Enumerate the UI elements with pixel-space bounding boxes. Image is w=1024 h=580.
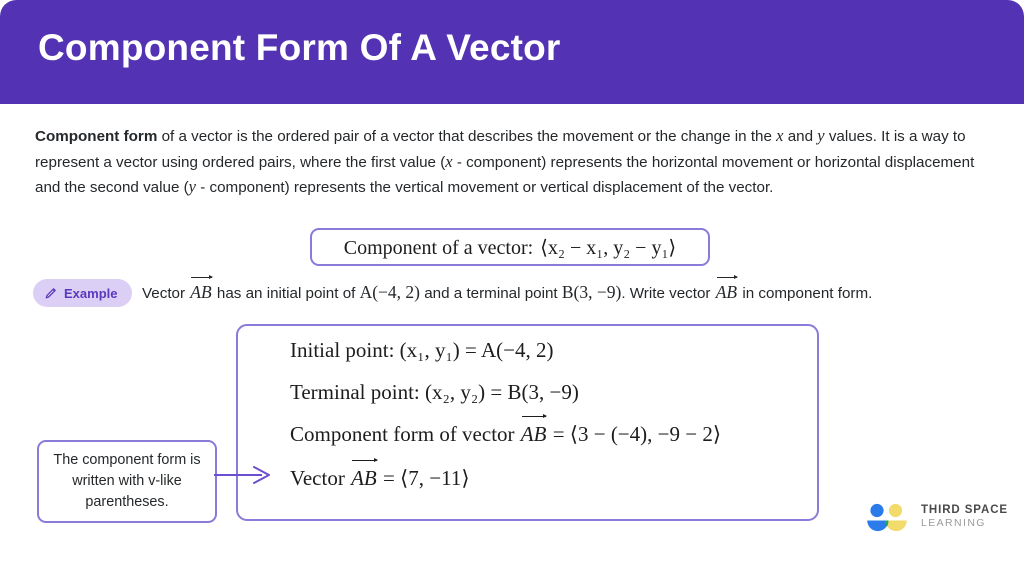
solution-line3-expression: = ⟨3 − (−4), −9 − 2⟩ [547, 422, 721, 446]
initial-point-value: A(−4, 2) [360, 282, 420, 302]
formula-box: Component of a vector:⟨x₂ − x₁, y₂ − y₁⟩ [310, 228, 710, 266]
solution-line-terminal-point: Terminal point: (x₂, y₂) = B(3, −9) [290, 380, 579, 405]
solution-line2-label: Terminal point: [290, 380, 425, 404]
intro-part1: of a vector is the ordered pair of a vec… [157, 128, 776, 145]
intro-paragraph: Component form of a vector is the ordere… [35, 124, 990, 201]
example-text-mid2: and a terminal point [420, 285, 562, 302]
solution-line4-label: Vector [290, 466, 350, 490]
terminal-point-value: B(3, −9) [562, 282, 621, 302]
example-question: Vector AB has an initial point of A(−4, … [142, 282, 872, 303]
example-text-mid3: . Write vector [621, 285, 714, 302]
solution-line-answer: Vector AB = ⟨7, −11⟩ [290, 466, 470, 491]
example-text-suffix: in component form. [738, 285, 872, 302]
example-text-prefix: Vector [142, 285, 189, 302]
intro-part2: and [783, 128, 817, 145]
example-text-mid1: has an initial point of [213, 285, 360, 302]
solution-line-component-form: Component form of vector AB = ⟨3 − (−4),… [290, 422, 721, 447]
brand-logo: THIRD SPACE LEARNING [864, 500, 994, 536]
solution-line1-expression: (x₁, y₁) = A(−4, 2) [400, 338, 554, 362]
intro-bold-lead: Component form [35, 128, 157, 145]
formula-text: Component of a vector:⟨x₂ − x₁, y₂ − y₁⟩ [344, 235, 676, 260]
solution-line-initial-point: Initial point: (x₁, y₁) = A(−4, 2) [290, 338, 553, 363]
logo-wordmark: THIRD SPACE LEARNING [921, 504, 1008, 529]
slide-canvas: Component Form Of A Vector Component for… [0, 0, 1024, 580]
solution-line2-expression: (x₂, y₂) = B(3, −9) [425, 380, 579, 404]
callout-box: The component form is written with v-lik… [37, 440, 217, 523]
vector-label-ab-2: AB [715, 282, 738, 303]
callout-text: The component form is written with v-lik… [39, 450, 215, 513]
vector-label-ab-4: AB [350, 466, 378, 491]
formula-expression: ⟨x₂ − x₁, y₂ − y₁⟩ [540, 237, 676, 259]
pencil-icon [44, 286, 58, 300]
solution-line1-label: Initial point: [290, 338, 400, 362]
logo-line-2: LEARNING [921, 517, 1008, 530]
example-badge-label: Example [64, 286, 117, 301]
logo-line-1: THIRD SPACE [921, 504, 1008, 517]
example-badge: Example [33, 279, 132, 307]
header-banner: Component Form Of A Vector [0, 0, 1024, 104]
inline-var-y-2: y [189, 177, 196, 196]
vector-label-ab-3: AB [520, 422, 548, 447]
inline-var-y: y [817, 126, 824, 145]
solution-line4-expression: = ⟨7, −11⟩ [378, 466, 470, 490]
vector-label-ab: AB [189, 282, 212, 303]
page-title: Component Form Of A Vector [38, 27, 561, 69]
intro-part5: - component) represents the vertical mov… [196, 179, 773, 196]
third-space-learning-logo-icon [864, 502, 914, 534]
solution-box: Initial point: (x₁, y₁) = A(−4, 2) Termi… [236, 324, 819, 521]
solution-line3-label: Component form of vector [290, 422, 520, 446]
inline-var-x-2: x [445, 152, 452, 171]
formula-label: Component of a vector: [344, 237, 533, 259]
callout-arrow-icon [214, 462, 276, 488]
